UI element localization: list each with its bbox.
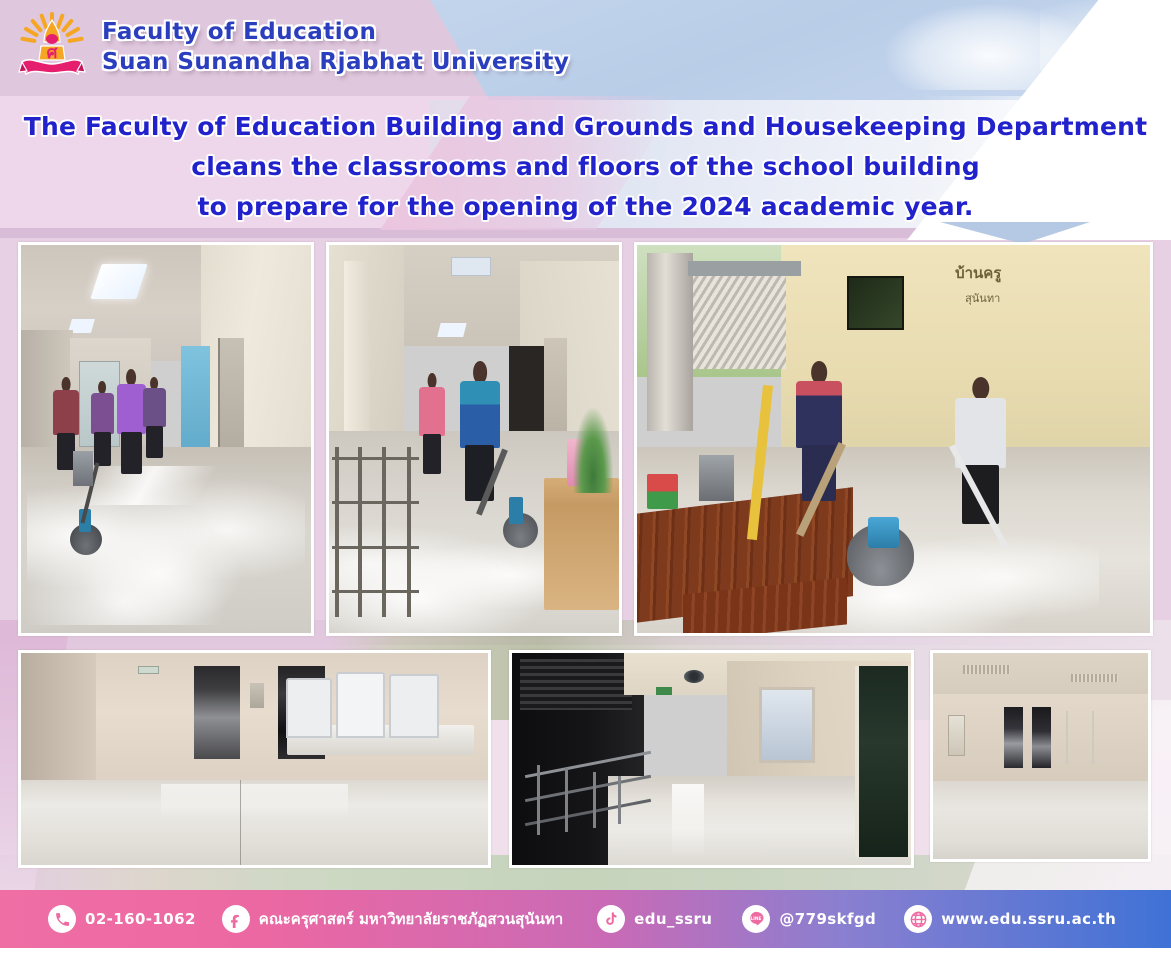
noticeboard [759, 687, 815, 763]
ssru-emblem-logo: ศ [16, 10, 88, 86]
wall-lettering-line-2: สุนันทา [965, 289, 1129, 307]
ceiling-lamp [684, 670, 704, 683]
ceiling-vent [963, 665, 1010, 673]
stacked-chairs [283, 670, 460, 768]
gallery-photo-5[interactable] [509, 650, 914, 868]
gallery-photo-6[interactable] [930, 650, 1151, 862]
photo-6-scene [933, 653, 1148, 859]
line-id: @779skfgd [779, 910, 876, 928]
university-name: Suan Sunandha Rjabhat University [102, 50, 569, 76]
worker-figure [91, 381, 114, 466]
wooden-desk [544, 478, 619, 610]
faculty-name: Faculty of Education [102, 20, 569, 46]
poster-canvas: ศ Faculty of Education Suan Sunandha Rja… [0, 0, 1171, 965]
headline-line-3: to prepare for the opening of the 2024 a… [0, 187, 1171, 227]
scrubber-motor [868, 517, 899, 548]
tiktok-handle: edu_ssru [634, 910, 712, 928]
phone-icon [48, 905, 76, 933]
photo-2-scene [329, 245, 619, 633]
photo-4-scene [21, 653, 488, 865]
headline-line-2: cleans the classrooms and floors of the … [0, 147, 1171, 187]
contact-line[interactable]: LINE @779skfgd [742, 905, 876, 933]
headline-block: The Faculty of Education Building and Gr… [0, 104, 1171, 226]
headline-line-1: The Faculty of Education Building and Gr… [0, 107, 1171, 147]
exit-sign [656, 687, 672, 695]
website-url: www.edu.ssru.ac.th [941, 910, 1116, 928]
worker-figure [796, 361, 842, 501]
gallery-photo-4[interactable] [18, 650, 491, 868]
wall-tv [847, 276, 903, 330]
svg-text:ศ: ศ [47, 43, 59, 63]
staircase [693, 276, 785, 369]
line-icon: LINE [742, 905, 770, 933]
worker-figure [419, 373, 445, 474]
potted-plant [573, 408, 614, 493]
gallery-photo-2[interactable] [326, 242, 622, 636]
worker-figure [143, 377, 166, 458]
facebook-page-name: คณะครุศาสตร์ มหาวิทยาลัยราชภัฏสวนสุนันทา [259, 907, 563, 931]
poster-header: ศ Faculty of Education Suan Sunandha Rja… [0, 0, 1171, 96]
contact-website[interactable]: www.edu.ssru.ac.th [904, 905, 1116, 933]
corridor-railing [332, 447, 419, 618]
photo-3-scene: บ้านครู สุนันทา [637, 245, 1150, 633]
elevator-call-panel [250, 683, 264, 708]
tiktok-icon [597, 905, 625, 933]
photo-1-scene [21, 245, 311, 633]
exit-sign [138, 666, 159, 674]
globe-icon [904, 905, 932, 933]
contact-facebook[interactable]: คณะครุศาสตร์ มหาวิทยาลัยราชภัฏสวนสุนันทา [222, 905, 563, 933]
glass-door [855, 666, 911, 857]
footer-accent-strip [0, 948, 1171, 965]
cleaning-cart [73, 451, 93, 486]
ceiling-vent [1071, 674, 1118, 682]
elevator-door [1032, 707, 1051, 769]
contact-phone[interactable]: 02-160-1062 [48, 905, 196, 933]
facebook-icon [222, 905, 250, 933]
noticeboard [948, 715, 965, 756]
elevator-door [194, 666, 241, 759]
phone-number: 02-160-1062 [85, 910, 196, 928]
gallery-photo-3[interactable]: บ้านครู สุนันทา [634, 242, 1153, 636]
cleaning-cart [699, 455, 735, 502]
louvre-panel [520, 659, 632, 710]
wall-lettering-line-1: บ้านครู [955, 261, 1129, 285]
scrubber-motor [509, 497, 524, 524]
corridor-railing [524, 759, 652, 852]
worker-figure [117, 369, 146, 474]
svg-text:LINE: LINE [751, 916, 762, 922]
gallery-photo-1[interactable] [18, 242, 314, 636]
elevator-door [1004, 707, 1023, 769]
wall-lettering: บ้านครู สุนันทา [955, 261, 1129, 323]
contact-footer: 02-160-1062 คณะครุศาสตร์ มหาวิทยาลัยราชภ… [0, 890, 1171, 948]
bucket [647, 474, 678, 509]
contact-tiktok[interactable]: edu_ssru [597, 905, 712, 933]
brand-text-block: Faculty of Education Suan Sunandha Rjabh… [102, 20, 569, 76]
photo-5-scene [512, 653, 911, 865]
